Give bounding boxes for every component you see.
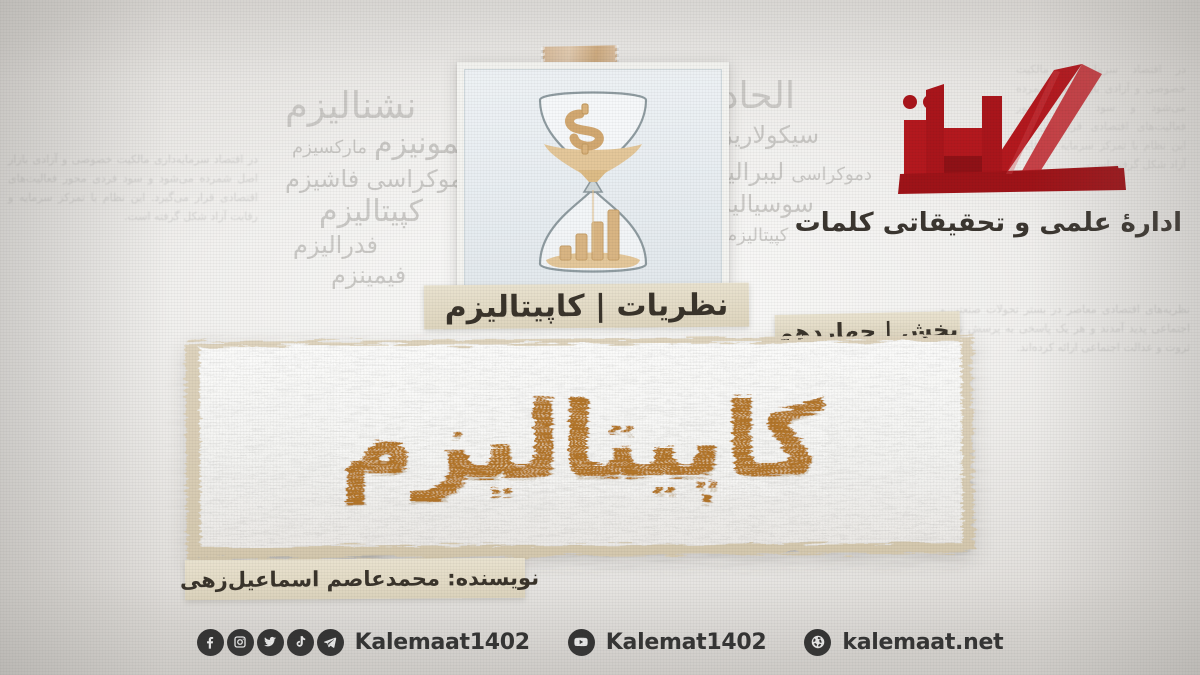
kalemaat-wordmark-icon xyxy=(886,56,1158,201)
tiktok-icon[interactable] xyxy=(287,629,314,656)
title-banner: کاپیتالیزم xyxy=(199,342,962,548)
series-tab-label: نظریات | کاپیتالیزم xyxy=(445,287,729,324)
background-term: دموکراسی xyxy=(791,165,872,186)
youtube-icon[interactable] xyxy=(568,629,595,656)
author-label: نویسنده: محمدعاصم اسماعیل‌زهی xyxy=(180,566,539,593)
social-icon-group xyxy=(197,629,344,656)
youtube-handle: Kalemat1402 xyxy=(606,630,767,655)
poster-canvas: در اقتصاد سرمایه‌داری مالکیت خصوصی و آزا… xyxy=(0,0,1200,675)
instagram-icon[interactable] xyxy=(227,629,254,656)
facebook-icon[interactable] xyxy=(197,629,224,656)
footer-social-bar: Kalemaat1402 Kalemat1402 kalemaat.net xyxy=(0,620,1200,664)
telegram-icon[interactable] xyxy=(317,629,344,656)
background-term: کپیتالیزم xyxy=(319,196,474,228)
brand-logo[interactable]: ادارۀ علمی و تحقیقاتی کلمات xyxy=(862,56,1182,271)
ghost-text-right: نظریه‌های اقتصادی معاصر در بستر تحولات ص… xyxy=(940,300,1190,357)
twitter-icon[interactable] xyxy=(257,629,284,656)
hourglass-photo xyxy=(464,69,722,294)
logo-tagline: ادارۀ علمی و تحقیقاتی کلمات xyxy=(862,208,1182,238)
background-term: نشنالیزم xyxy=(285,88,474,124)
hourglass-icon xyxy=(518,84,668,280)
ghost-text-left: در اقتصاد سرمایه‌داری مالکیت خصوصی و آزا… xyxy=(8,150,258,226)
background-term: فاشیزم xyxy=(285,166,359,192)
background-terms-left: نشنالیزم کمونیزم مارکسیزم دموکراسی فاشیز… xyxy=(285,88,474,288)
hourglass-photo-card xyxy=(457,62,729,301)
author-tab[interactable]: نویسنده: محمدعاصم اسماعیل‌زهی xyxy=(185,558,525,600)
background-term: مارکسیزم xyxy=(292,138,367,159)
website-label: kalemaat.net xyxy=(842,630,1003,655)
background-term: سیکولاریزم xyxy=(706,122,872,148)
background-term: فدرالیزم xyxy=(293,232,474,258)
social-handle: Kalemaat1402 xyxy=(355,630,530,655)
page-title: کاپیتالیزم xyxy=(338,387,824,494)
globe-icon[interactable] xyxy=(804,629,831,656)
series-tab[interactable]: نظریات | کاپیتالیزم xyxy=(424,283,749,330)
background-term: الحاد xyxy=(722,78,872,114)
